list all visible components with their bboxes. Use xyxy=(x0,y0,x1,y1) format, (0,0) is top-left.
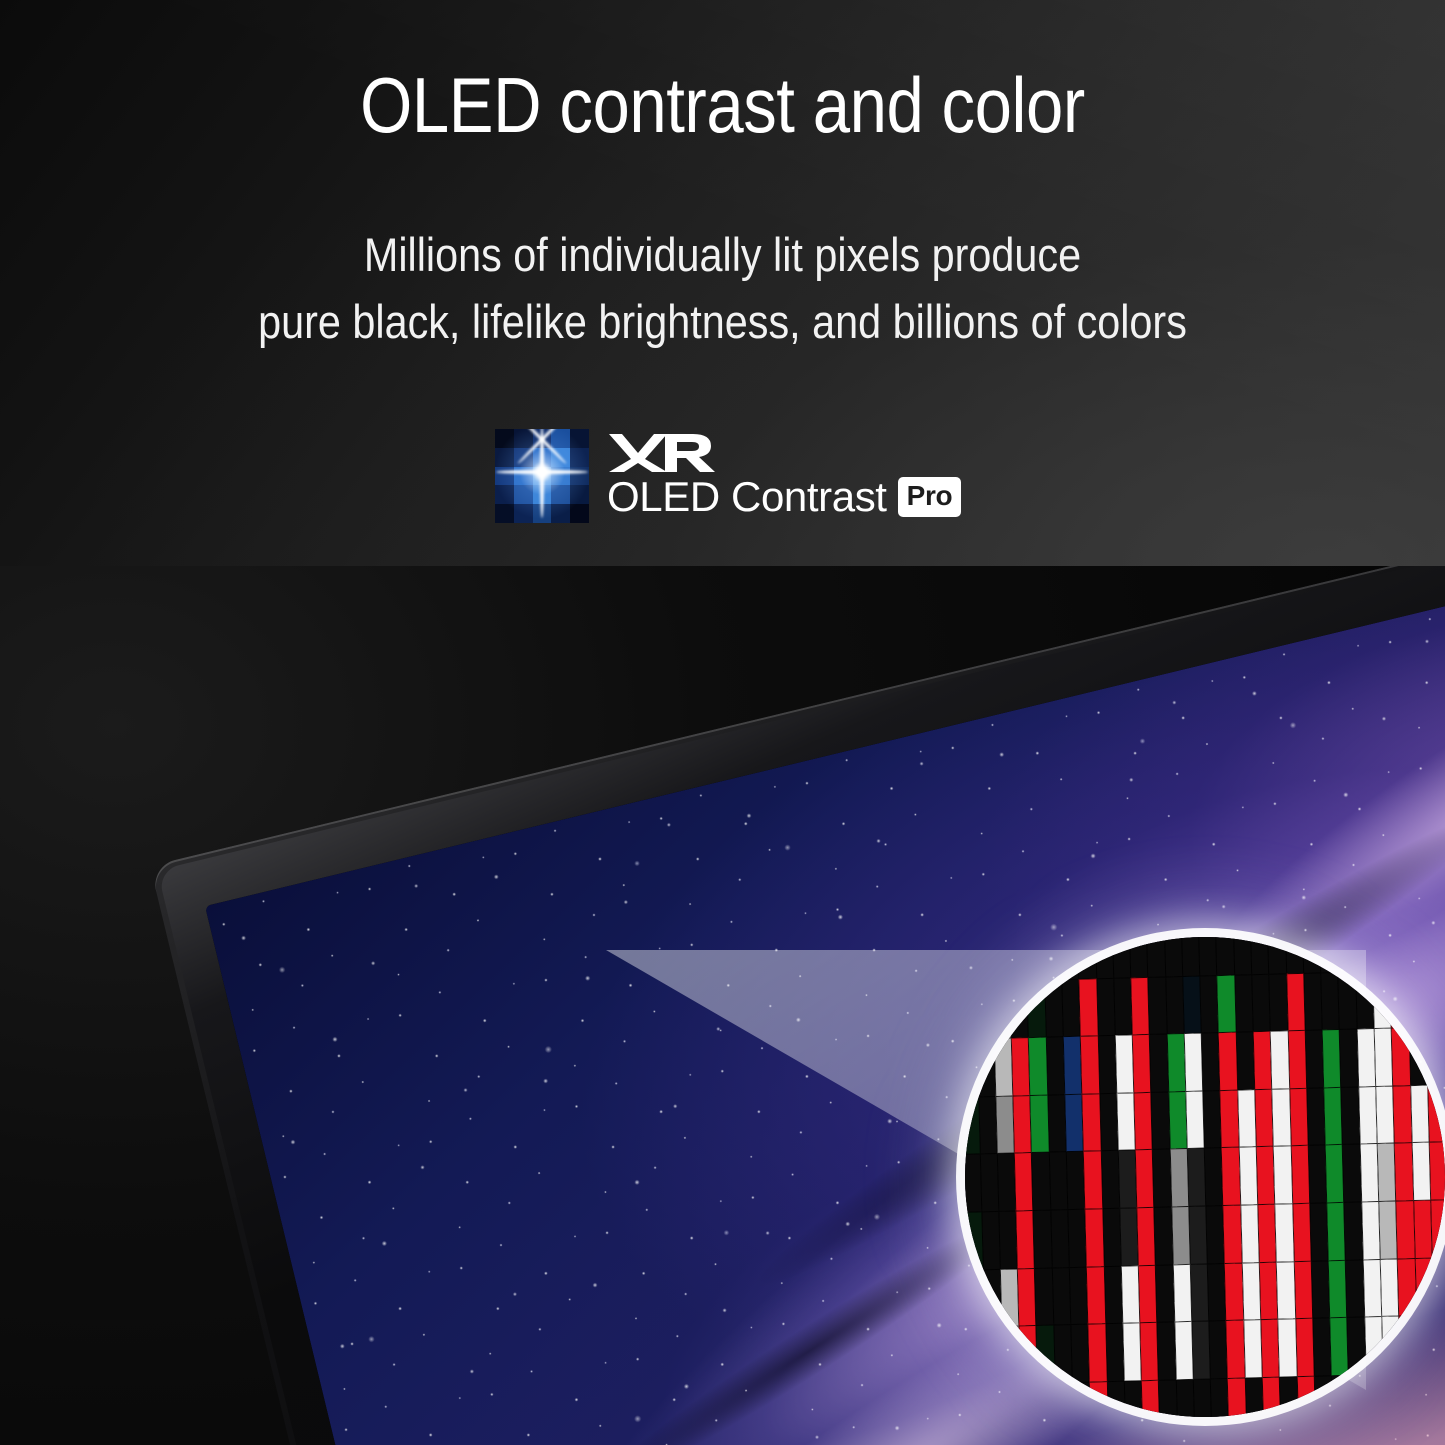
subtitle-line-1: Millions of individually lit pixels prod… xyxy=(87,222,1359,289)
page-title: OLED contrast and color xyxy=(101,66,1344,144)
badge-feature-row: OLED Contrast Pro xyxy=(607,476,961,518)
oled-feature-panel: OLED contrast and color Millions of indi… xyxy=(0,0,1445,1445)
xr-oled-contrast-pro-badge: OLED Contrast Pro xyxy=(495,429,961,523)
feature-name: OLED Contrast xyxy=(607,476,887,518)
product-photo xyxy=(0,566,1445,1445)
xr-starburst-pixel-icon xyxy=(495,429,589,523)
header-section: OLED contrast and color Millions of indi… xyxy=(0,0,1445,566)
subtitle-line-2: pure black, lifelike brightness, and bil… xyxy=(87,289,1359,356)
badge-text-block: OLED Contrast Pro xyxy=(607,429,961,518)
xr-wordmark xyxy=(607,431,719,475)
pro-badge: Pro xyxy=(898,477,962,517)
page-subtitle: Millions of individually lit pixels prod… xyxy=(87,222,1359,355)
